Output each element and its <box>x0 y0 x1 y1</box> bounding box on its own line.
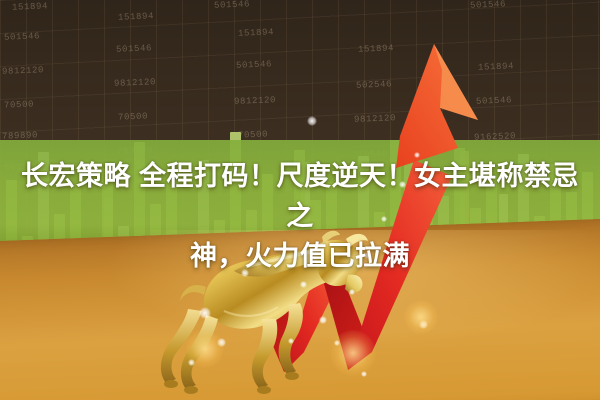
headline: 长宏策略 全程打码！尺度逆天！女主堪称禁忌之 神，火力值已拉满 <box>0 156 600 276</box>
thumbnail-image: 1518945015469812120705007898905015701518… <box>0 0 600 400</box>
headline-line-2: 神，火力值已拉满 <box>8 236 592 276</box>
headline-line-1: 长宏策略 全程打码！尺度逆天！女主堪称禁忌之 <box>8 156 592 236</box>
